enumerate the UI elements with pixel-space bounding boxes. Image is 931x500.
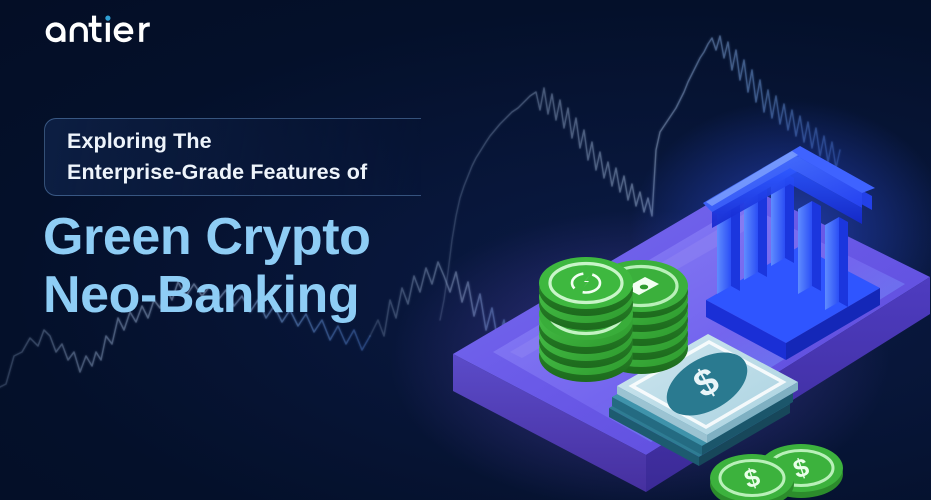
coin-stack-left [539, 257, 633, 382]
loose-coin-front: $ [710, 454, 794, 500]
hero-banner: Exploring The Enterprise-Grade Features … [0, 0, 931, 500]
hero-illustration: $ [0, 0, 931, 500]
